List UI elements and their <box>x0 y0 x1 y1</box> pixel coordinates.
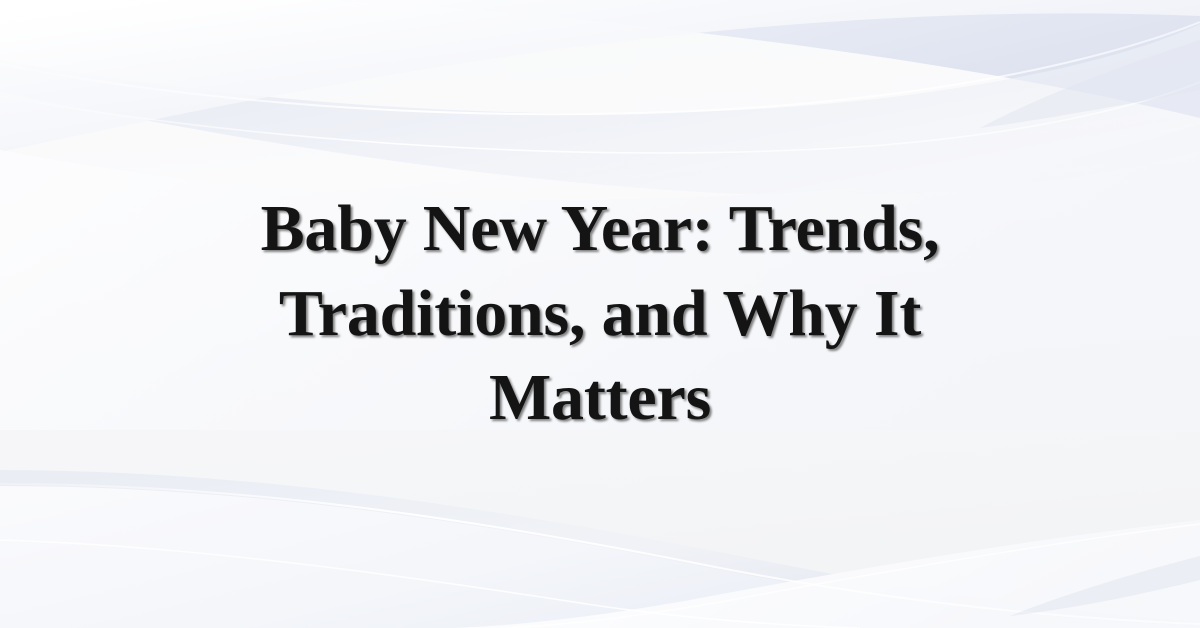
page-title: Baby New Year: Trends, Traditions, and W… <box>200 187 1000 440</box>
banner-card: Baby New Year: Trends, Traditions, and W… <box>0 0 1200 628</box>
title-container: Baby New Year: Trends, Traditions, and W… <box>0 0 1200 628</box>
